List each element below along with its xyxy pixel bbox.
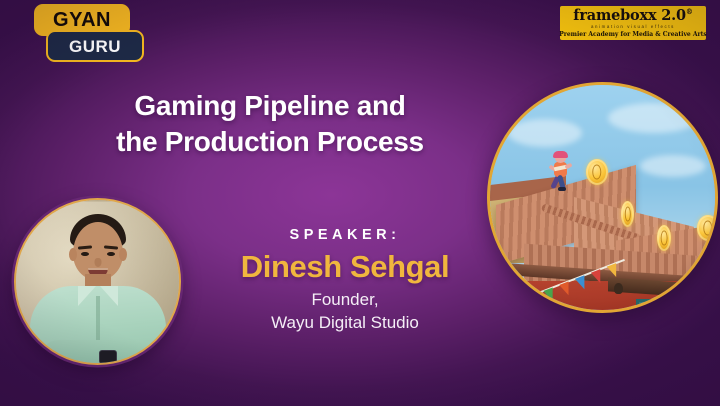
gyan-guru-logo: GYAN GURU bbox=[20, 4, 140, 62]
frameboxx-logo-tagline: animation visual effects bbox=[591, 24, 675, 30]
registered-trademark-icon: ® bbox=[686, 7, 693, 16]
slide-canvas: GYAN GURU frameboxx 2.0® animation visua… bbox=[0, 0, 720, 406]
avatar-collar-left bbox=[78, 286, 96, 306]
speaker-name: Dinesh Sehgal bbox=[185, 250, 505, 285]
game-vignette bbox=[490, 85, 715, 310]
game-artwork bbox=[487, 82, 718, 313]
guru-logo-text: GURU bbox=[69, 38, 121, 55]
frameboxx-logo-subtitle: Premier Academy for Media & Creative Art… bbox=[559, 31, 707, 39]
avatar-ear-left bbox=[69, 248, 77, 261]
avatar-nose bbox=[94, 258, 101, 267]
avatar-collar-right bbox=[100, 286, 118, 306]
frameboxx-logo: frameboxx 2.0® animation visual effects … bbox=[560, 6, 706, 40]
avatar-wristwatch bbox=[99, 350, 117, 364]
gyan-logo-text: GYAN bbox=[53, 10, 111, 30]
speaker-label: SPEAKER: bbox=[185, 228, 505, 243]
page-title-line2: the Production Process bbox=[60, 124, 480, 160]
guru-logo-badge: GURU bbox=[46, 30, 144, 62]
speaker-block: SPEAKER: Dinesh Sehgal Founder, Wayu Dig… bbox=[185, 228, 505, 334]
speaker-role-line2: Wayu Digital Studio bbox=[185, 312, 505, 334]
page-title: Gaming Pipeline and the Production Proce… bbox=[60, 88, 480, 161]
frameboxx-logo-name: frameboxx 2.0® bbox=[573, 8, 692, 23]
page-title-line1: Gaming Pipeline and bbox=[60, 88, 480, 124]
avatar-ear-right bbox=[119, 248, 127, 261]
speaker-role: Founder, Wayu Digital Studio bbox=[185, 289, 505, 334]
avatar bbox=[14, 198, 181, 365]
speaker-role-line1: Founder, bbox=[185, 289, 505, 311]
avatar-crossed-arms bbox=[39, 340, 157, 365]
